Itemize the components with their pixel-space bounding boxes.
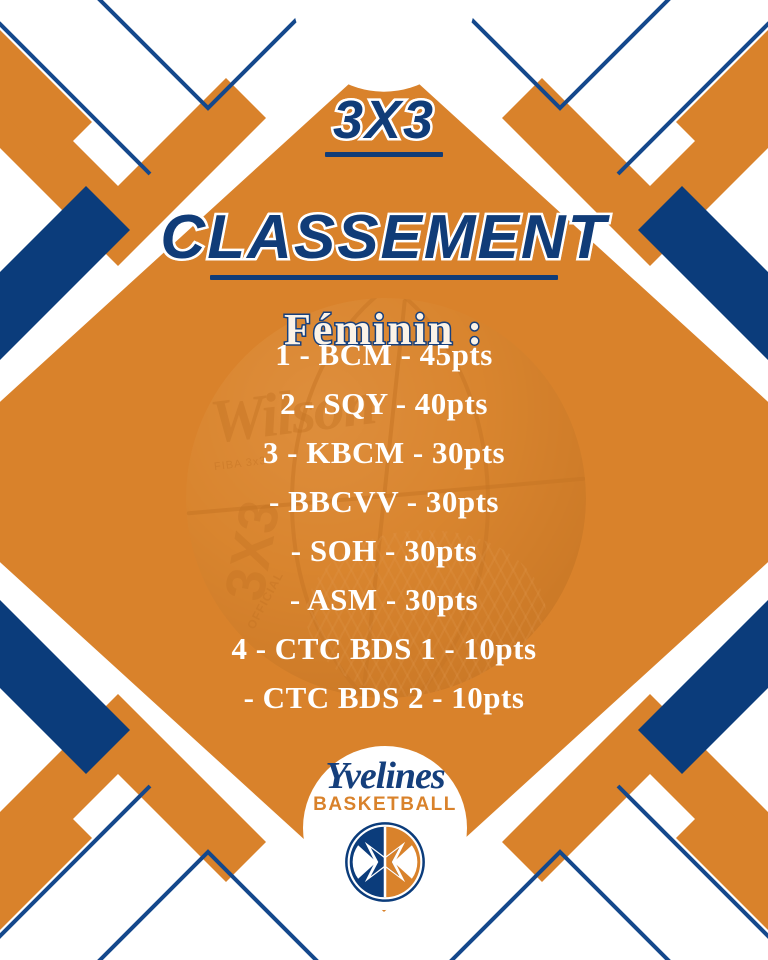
list-item: 1 - BCM - 45pts [0,330,768,379]
title-classement-wrap: CLASSEMENT [0,205,768,280]
page-subtitle: CLASSEMENT [160,205,607,271]
poster-content: 3X3 CLASSEMENT Féminin : 1 - BCM - 45pts… [0,0,768,960]
logo-subtitle: BASKETBALL [303,794,467,816]
ranking-list: 1 - BCM - 45pts 2 - SQY - 40pts 3 - KBCM… [0,330,768,722]
subtitle-underline [210,275,558,280]
logo-wordmark: Yvelines [303,756,467,796]
list-item: 3 - KBCM - 30pts [0,428,768,477]
poster-canvas: Wilson FIBA 3x3 3X3 OFFICIAL 3X3 CLASSEM… [0,0,768,960]
list-item: - ASM - 30pts [0,575,768,624]
title-3x3-wrap: 3X3 [0,92,768,157]
title-block: 3X3 CLASSEMENT Féminin : [0,92,768,354]
list-item: 4 - CTC BDS 1 - 10pts [0,624,768,673]
list-item: - SOH - 30pts [0,526,768,575]
list-item: - CTC BDS 2 - 10pts [0,673,768,722]
yvelines-basketball-logo: Yvelines BASKETBALL [303,746,467,910]
page-title: 3X3 [333,92,435,148]
list-item: - BBCVV - 30pts [0,477,768,526]
title-underline [325,152,443,157]
x-circle-emblem-icon [343,820,427,904]
list-item: 2 - SQY - 40pts [0,379,768,428]
